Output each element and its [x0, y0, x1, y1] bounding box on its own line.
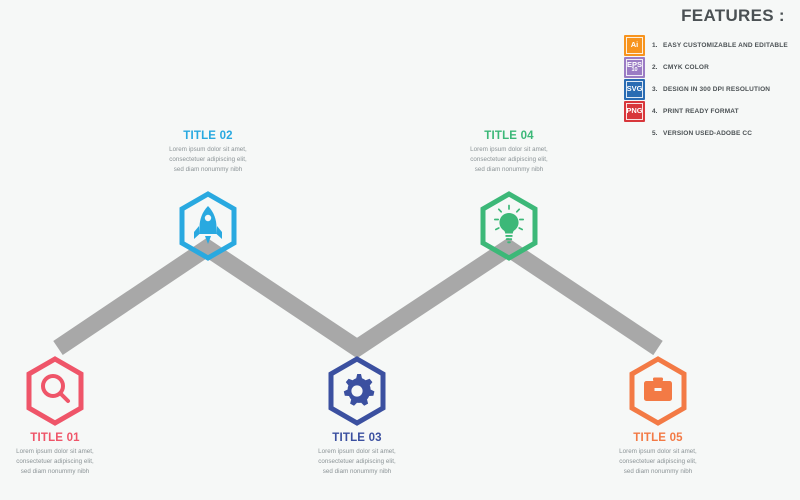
node-title-02[interactable]: TITLE 02 Lorem ipsum dolor sit amet, con…: [123, 130, 293, 262]
badge-sublabel: 10: [631, 68, 637, 74]
briefcase-icon: [644, 378, 672, 402]
node-title-05[interactable]: TITLE 05 Lorem ipsum dolor sit amet, con…: [573, 355, 743, 478]
text-block-05: TITLE 05 Lorem ipsum dolor sit amet, con…: [573, 432, 743, 478]
node-desc-02: Lorem ipsum dolor sit amet, consectetuer…: [165, 145, 251, 176]
node-title-label-03: TITLE 03: [272, 432, 442, 444]
png-badge: PNG: [624, 101, 645, 122]
node-desc-01: Lorem ipsum dolor sit amet, consectetuer…: [12, 447, 98, 478]
feature-row: 5. VERSION USED-ADOBE CC: [624, 122, 800, 144]
node-title-label-05: TITLE 05: [573, 432, 743, 444]
feature-number: 4.: [645, 108, 663, 115]
lightbulb-icon: [495, 205, 523, 243]
feature-row: SVG 3. DESIGN IN 300 DPI RESOLUTION: [624, 78, 800, 100]
rocket-icon: [194, 206, 222, 244]
feature-label: PRINT READY FORMAT: [663, 108, 739, 115]
features-panel: FEATURES : Ai 1. EASY CUSTOMIZABLE AND E…: [624, 6, 800, 144]
badge-label: PNG: [626, 107, 642, 115]
feature-number: 1.: [645, 42, 663, 49]
hex-shape-02[interactable]: [175, 190, 241, 262]
text-block-02: TITLE 02 Lorem ipsum dolor sit amet, con…: [123, 130, 293, 176]
node-desc-04: Lorem ipsum dolor sit amet, consectetuer…: [466, 145, 552, 176]
feature-label: EASY CUSTOMIZABLE AND EDITABLE: [663, 42, 788, 49]
text-block-04: TITLE 04 Lorem ipsum dolor sit amet, con…: [424, 130, 594, 176]
svg-badge: SVG: [624, 79, 645, 100]
feature-row: PNG 4. PRINT READY FORMAT: [624, 100, 800, 122]
hexagon-outline-01: [29, 359, 81, 423]
hex-shape-03[interactable]: [324, 355, 390, 427]
badge-label: SVG: [627, 85, 643, 93]
feature-number: 2.: [645, 64, 663, 71]
node-title-03[interactable]: TITLE 03 Lorem ipsum dolor sit amet, con…: [272, 355, 442, 478]
connector-path: [58, 248, 658, 348]
text-block-01: TITLE 01 Lorem ipsum dolor sit amet, con…: [0, 432, 140, 478]
hex-shape-05[interactable]: [625, 355, 691, 427]
infographic-canvas: TITLE 01 Lorem ipsum dolor sit amet, con…: [0, 0, 800, 500]
node-title-label-04: TITLE 04: [424, 130, 594, 142]
features-title: FEATURES :: [624, 6, 800, 26]
feature-label: VERSION USED-ADOBE CC: [663, 130, 752, 137]
feature-label: DESIGN IN 300 DPI RESOLUTION: [663, 86, 770, 93]
feature-number: 5.: [645, 130, 663, 137]
feature-label: CMYK COLOR: [663, 64, 709, 71]
feature-row: EPS 10 2. CMYK COLOR: [624, 56, 800, 78]
hex-shape-01[interactable]: [22, 355, 88, 427]
text-block-03: TITLE 03 Lorem ipsum dolor sit amet, con…: [272, 432, 442, 478]
node-desc-05: Lorem ipsum dolor sit amet, consectetuer…: [615, 447, 701, 478]
node-desc-03: Lorem ipsum dolor sit amet, consectetuer…: [314, 447, 400, 478]
hex-shape-04[interactable]: [476, 190, 542, 262]
badge-label: Ai: [631, 41, 639, 49]
adobe-illustrator-badge: Ai: [624, 35, 645, 56]
magnifier-icon: [43, 376, 68, 401]
node-title-01[interactable]: TITLE 01 Lorem ipsum dolor sit amet, con…: [0, 355, 140, 478]
node-title-label-02: TITLE 02: [123, 130, 293, 142]
feature-row: Ai 1. EASY CUSTOMIZABLE AND EDITABLE: [624, 34, 800, 56]
node-title-label-01: TITLE 01: [0, 432, 140, 444]
gear-icon: [344, 374, 375, 406]
no-badge: [624, 123, 645, 144]
feature-number: 3.: [645, 86, 663, 93]
node-title-04[interactable]: TITLE 04 Lorem ipsum dolor sit amet, con…: [424, 130, 594, 262]
eps-badge: EPS 10: [624, 57, 645, 78]
